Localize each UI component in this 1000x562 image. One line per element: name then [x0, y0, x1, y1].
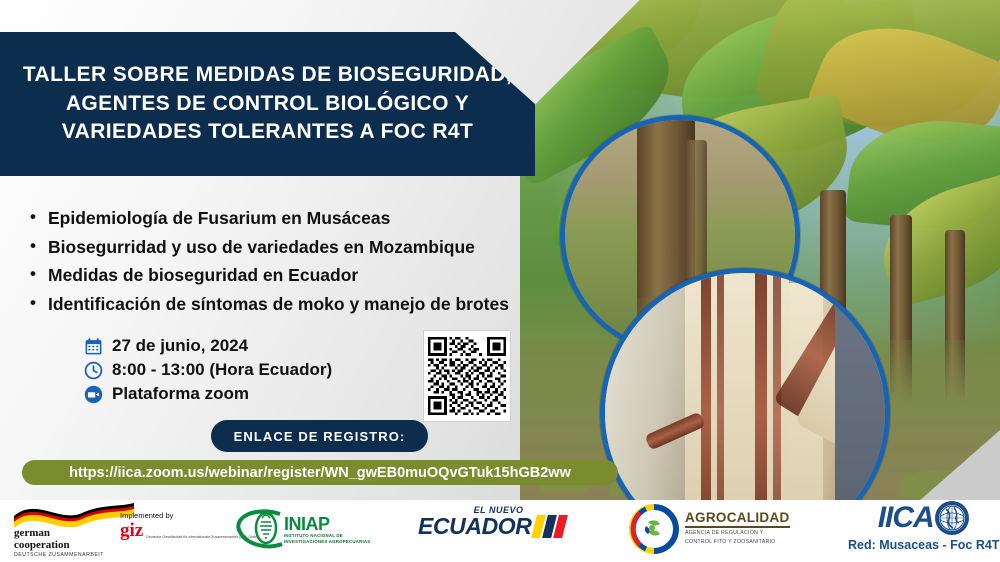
- title-line-3: VARIEDADES TOLERANTES A FOC R4T: [23, 118, 512, 147]
- detail-platform: Plataforma zoom: [84, 384, 332, 404]
- event-details: 27 de junio, 2024 8:00 - 13:00 (Hora Ecu…: [84, 336, 332, 408]
- ecuador-wordmark: ECUADOR: [418, 515, 531, 538]
- zoom-video-icon: [84, 385, 103, 404]
- giz-wordmark: giz: [120, 522, 143, 539]
- agrocalidad-subtitle-2: CONTROL FITO Y ZOOSANITARIO: [685, 539, 790, 546]
- webinar-poster: TALLER SOBRE MEDIDAS DE BIOSEGURIDAD, AG…: [0, 0, 1000, 562]
- agrocalidad-wordmark: AGROCALIDAD: [685, 511, 790, 528]
- german-flag-swoosh-icon: [14, 503, 134, 527]
- qr-code[interactable]: [424, 331, 510, 421]
- iica-globe-seal-icon: [934, 500, 970, 536]
- list-item: Identificación de síntomas de moko y man…: [30, 291, 590, 318]
- registration-url-link[interactable]: https://iica.zoom.us/webinar/register/WN…: [22, 460, 618, 485]
- agrocalidad-emblem-icon: [628, 504, 680, 554]
- german-cooperation-line1: german: [14, 528, 70, 540]
- title-line-1: TALLER SOBRE MEDIDAS DE BIOSEGURIDAD,: [23, 61, 512, 90]
- logo-german-cooperation: german cooperation DEUTSCHE ZUSAMMENARBE…: [14, 503, 134, 558]
- detail-date-text: 27 de junio, 2024: [112, 336, 248, 356]
- logo-el-nuevo-ecuador: EL NUEVO ECUADOR: [418, 505, 567, 538]
- logo-iniap: INIAP INSTITUTO NACIONAL DE INVESTIGACIO…: [236, 508, 370, 552]
- iniap-emblem-icon: [236, 508, 288, 552]
- iniap-subtitle-2: INVESTIGACIONES AGROPECUARIAS: [284, 539, 370, 545]
- ecuador-flag-stripes-icon: [532, 515, 571, 538]
- topics-list: Epidemiología de Fusarium en Musáceas Bi…: [30, 205, 590, 319]
- logo-agrocalidad: AGROCALIDAD AGENCIA DE REGULACIÓN Y CONT…: [628, 504, 790, 554]
- list-item: Epidemiología de Fusarium en Musáceas: [30, 205, 590, 232]
- german-cooperation-line2: cooperation: [14, 540, 70, 552]
- list-item: Medidas de bioseguridad en Ecuador: [30, 262, 590, 289]
- title-line-2: AGENTES DE CONTROL BIOLÓGICO Y: [23, 90, 512, 119]
- title-banner: TALLER SOBRE MEDIDAS DE BIOSEGURIDAD, AG…: [0, 32, 535, 176]
- logo-iica: IICA Red: Musaceas - Foc R4T: [848, 500, 999, 552]
- iniap-wordmark: INIAP: [284, 515, 370, 533]
- german-cooperation-wordmark: german cooperation: [14, 528, 70, 551]
- detail-time: 8:00 - 13:00 (Hora Ecuador): [84, 360, 332, 380]
- list-item: Biosegurridad y uso de variedades en Moz…: [30, 234, 590, 261]
- qr-code-image: [428, 335, 506, 417]
- calendar-icon: [84, 337, 103, 356]
- iica-network-label: Red: Musaceas - Foc R4T: [848, 538, 999, 552]
- iica-wordmark: IICA: [878, 503, 934, 533]
- page-title: TALLER SOBRE MEDIDAS DE BIOSEGURIDAD, AG…: [9, 61, 526, 148]
- detail-date: 27 de junio, 2024: [84, 336, 332, 356]
- clock-icon: [84, 361, 103, 380]
- register-link-button[interactable]: ENLACE DE REGISTRO:: [211, 420, 428, 452]
- giz-implemented-by: Implemented by: [120, 511, 173, 520]
- detail-time-text: 8:00 - 13:00 (Hora Ecuador): [112, 360, 332, 380]
- detail-platform-text: Plataforma zoom: [112, 384, 249, 404]
- agrocalidad-subtitle-1: AGENCIA DE REGULACIÓN Y: [685, 530, 790, 537]
- german-cooperation-subtitle: DEUTSCHE ZUSAMMENARBEIT: [14, 552, 104, 558]
